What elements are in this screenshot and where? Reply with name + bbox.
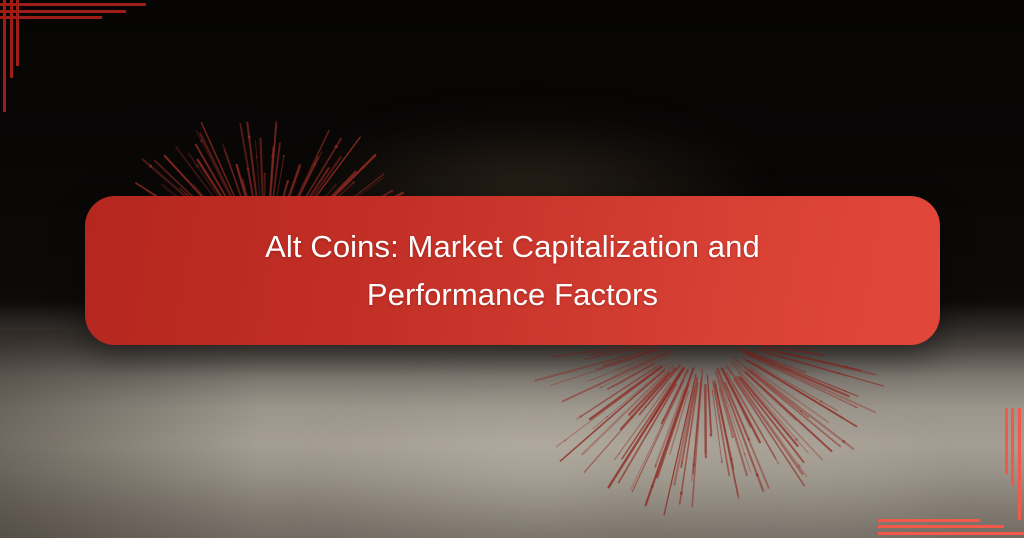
banner-image: Alt Coins: Market Capitalization and Per… [0, 0, 1024, 538]
title-card: Alt Coins: Market Capitalization and Per… [85, 196, 940, 345]
background-vignette-bottom [0, 448, 1024, 538]
page-title: Alt Coins: Market Capitalization and Per… [233, 223, 793, 317]
page-title-line-1: Alt Coins: Market Capitalization and [265, 229, 760, 264]
page-title-line-2: Performance Factors [367, 277, 658, 312]
